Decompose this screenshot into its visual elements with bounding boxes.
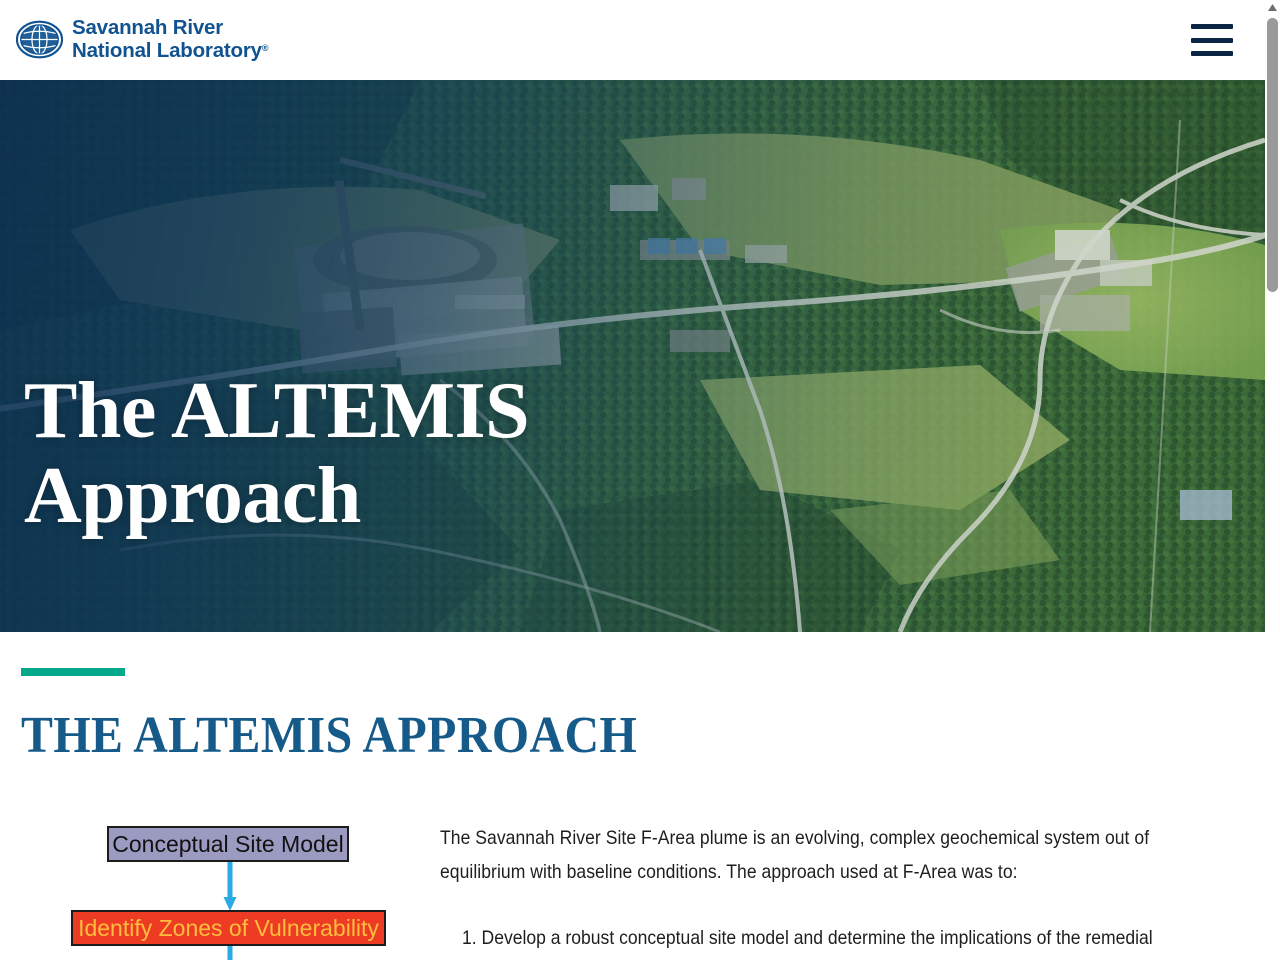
flow-node-label: Conceptual Site Model (112, 831, 343, 858)
site-logo-link[interactable]: Savannah River National Laboratory® (16, 16, 268, 63)
approach-steps-list: Develop a robust conceptual site model a… (440, 922, 1220, 956)
hero-gradient-overlay (0, 80, 1265, 632)
list-item: Develop a robust conceptual site model a… (462, 922, 1219, 956)
logo-line-1: Savannah River (72, 17, 268, 39)
page-root: Savannah River National Laboratory® (0, 0, 1280, 960)
text-column: The Savannah River Site F-Area plume is … (440, 822, 1265, 956)
flow-arrow-down-icon (223, 862, 237, 912)
intro-paragraph: The Savannah River Site F-Area plume is … (440, 822, 1219, 889)
page-title: THE ALTEMIS APPROACH (21, 710, 637, 762)
scrollbar-thumb[interactable] (1267, 18, 1278, 292)
hero-title: The ALTEMIS Approach (24, 369, 644, 540)
registered-trademark-mark: ® (262, 43, 269, 53)
flow-arrow-down-icon-2 (223, 946, 237, 960)
altemis-approach-flowchart: Conceptual Site Model Identify Zones of … (21, 826, 421, 960)
scroll-up-arrow-icon[interactable] (1265, 0, 1280, 15)
section-accent-bar (21, 668, 125, 676)
hero-banner: The ALTEMIS Approach (0, 80, 1265, 632)
flow-node-identify-zones-of-vulnerability: Identify Zones of Vulnerability (71, 910, 386, 946)
vertical-scrollbar[interactable] (1265, 0, 1280, 960)
flow-node-label: Identify Zones of Vulnerability (78, 915, 379, 942)
content-columns: Conceptual Site Model Identify Zones of … (0, 822, 1265, 960)
hamburger-bar-3 (1191, 51, 1233, 56)
logo-wordmark: Savannah River National Laboratory® (72, 17, 268, 61)
hamburger-menu-icon[interactable] (1191, 24, 1233, 56)
globe-icon (16, 16, 63, 63)
figure-column: Conceptual Site Model Identify Zones of … (0, 822, 440, 960)
hamburger-bar-2 (1191, 38, 1233, 43)
hamburger-bar-1 (1191, 24, 1233, 29)
browser-viewport: Savannah River National Laboratory® (0, 0, 1265, 960)
site-header: Savannah River National Laboratory® (0, 0, 1265, 80)
flow-node-conceptual-site-model: Conceptual Site Model (107, 826, 349, 862)
logo-line-2: National Laboratory® (72, 40, 268, 62)
